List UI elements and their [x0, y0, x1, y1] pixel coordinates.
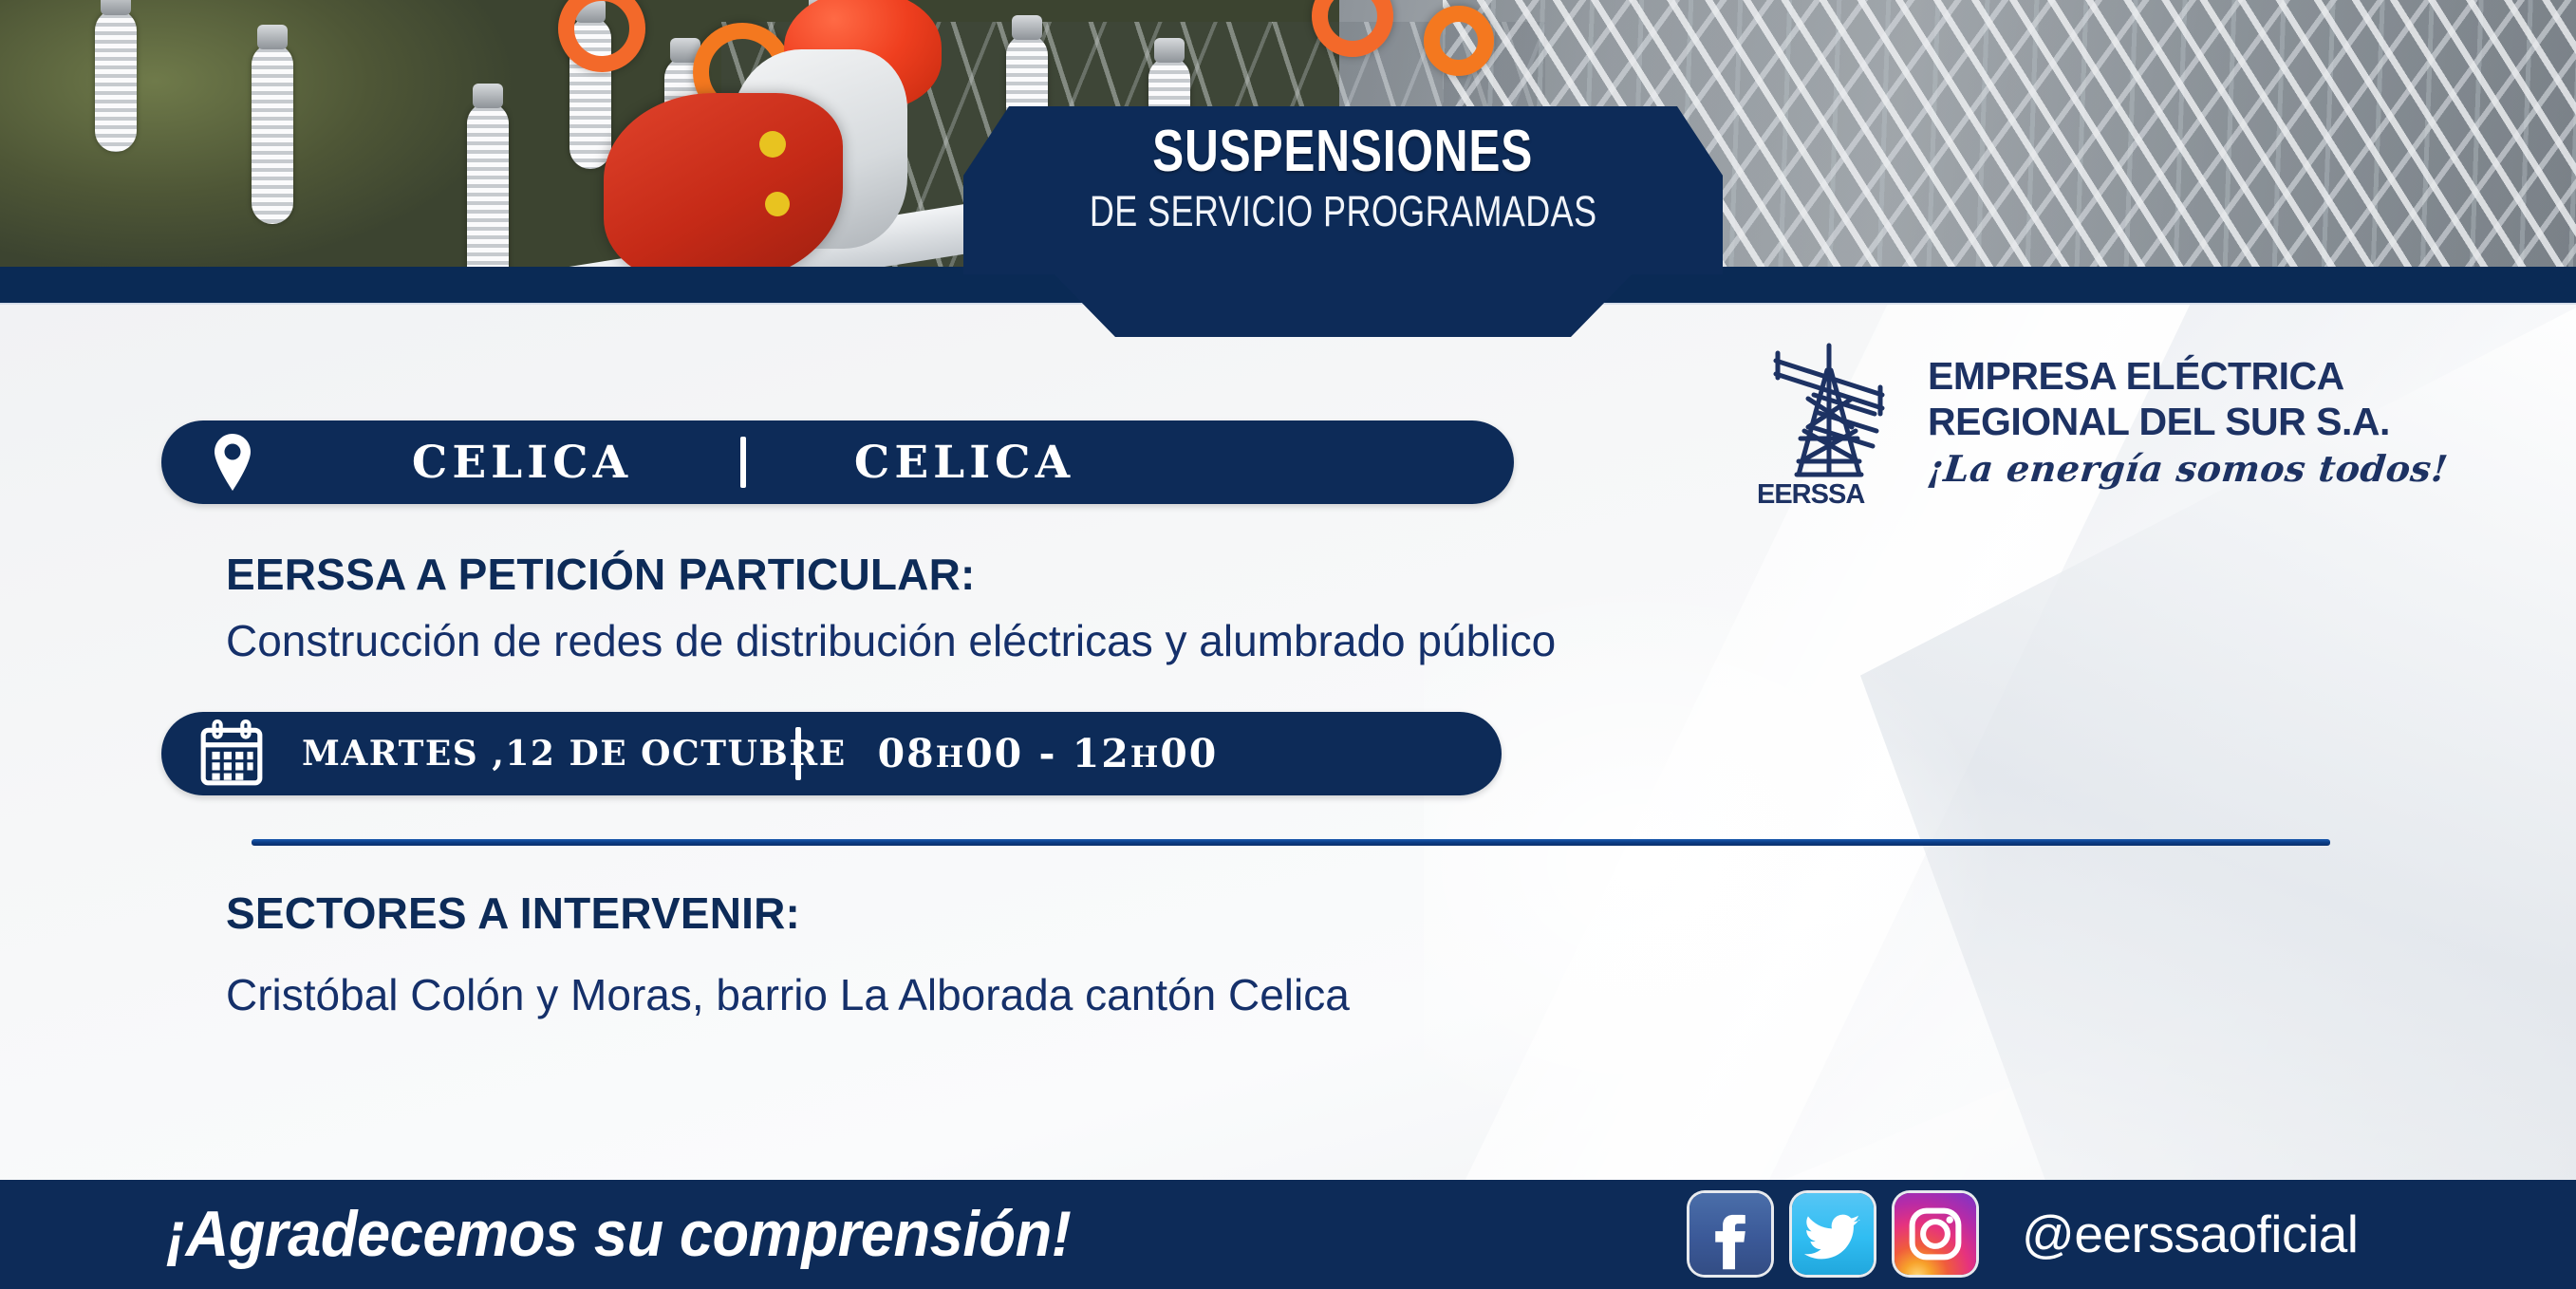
sectors-description-block: Cristóbal Colón y Moras, barrio La Albor…: [226, 969, 1350, 1020]
reason-heading: EERSSA A PETICIÓN PARTICULAR:: [226, 549, 976, 600]
social-links: @eerssaoficial: [1689, 1193, 2359, 1275]
schedule-pill: MARTES ,12 DE OCTUBRE 08H00 - 12H00: [161, 712, 1502, 795]
instagram-icon[interactable]: [1895, 1193, 1976, 1275]
logo-line-1: EMPRESA ELÉCTRICA: [1928, 355, 2448, 399]
location-pill: CELICA CELICA: [161, 420, 1514, 504]
sectors-heading-block: SECTORES A INTERVENIR:: [226, 887, 800, 939]
map-pin-icon: [161, 432, 304, 493]
reason-description-block: Construcción de redes de distribución el…: [226, 615, 1556, 666]
footer-message: ¡Agradecemos su comprensión!: [166, 1197, 1071, 1271]
sectors-description: Cristóbal Colón y Moras, barrio La Albor…: [226, 969, 1350, 1020]
eerssa-logo: EERSSA EMPRESA ELÉCTRICA REGIONAL DEL SU…: [1761, 323, 2406, 522]
time-start-h: H: [936, 740, 965, 775]
reason-description: Construcción de redes de distribución el…: [226, 615, 1556, 666]
suspension-notice-poster: SUSPENSIONES DE SERVICIO PROGRAMADAS: [0, 0, 2576, 1289]
time-start-min: 00: [965, 731, 1023, 776]
time-end-hour: 12: [1073, 731, 1130, 776]
logo-slogan: ¡La energía somos todos!: [1926, 447, 2451, 490]
banner-title-line1: SUSPENSIONES: [1153, 121, 1534, 181]
sectors-heading: SECTORES A INTERVENIR:: [226, 887, 800, 939]
schedule-date: MARTES ,12 DE OCTUBRE: [302, 734, 784, 774]
banner-title-line2: DE SERVICIO PROGRAMADAS: [1090, 189, 1597, 234]
time-dash: -: [1023, 731, 1073, 776]
time-end-min: 00: [1160, 731, 1218, 776]
location-province: CELICA: [304, 437, 740, 489]
time-end-h: H: [1130, 740, 1160, 775]
transmission-tower-icon: EERSSA: [1761, 332, 1903, 513]
schedule-time: 08H00 - 12H00: [801, 731, 1295, 776]
twitter-icon[interactable]: [1792, 1193, 1874, 1275]
social-handle[interactable]: @eerssaoficial: [2022, 1204, 2359, 1264]
logo-line-2: REGIONAL DEL SUR S.A.: [1928, 401, 2448, 444]
reason-heading-block: EERSSA A PETICIÓN PARTICULAR:: [226, 549, 976, 600]
footer-bar: ¡Agradecemos su comprensión!: [0, 1180, 2576, 1289]
calendar-icon: [161, 719, 302, 789]
logo-mark-label: EERSSA: [1757, 479, 1864, 511]
section-divider: [252, 839, 2330, 846]
time-start-hour: 08: [878, 731, 936, 776]
facebook-icon[interactable]: [1689, 1193, 1771, 1275]
location-canton: CELICA: [746, 437, 1183, 489]
